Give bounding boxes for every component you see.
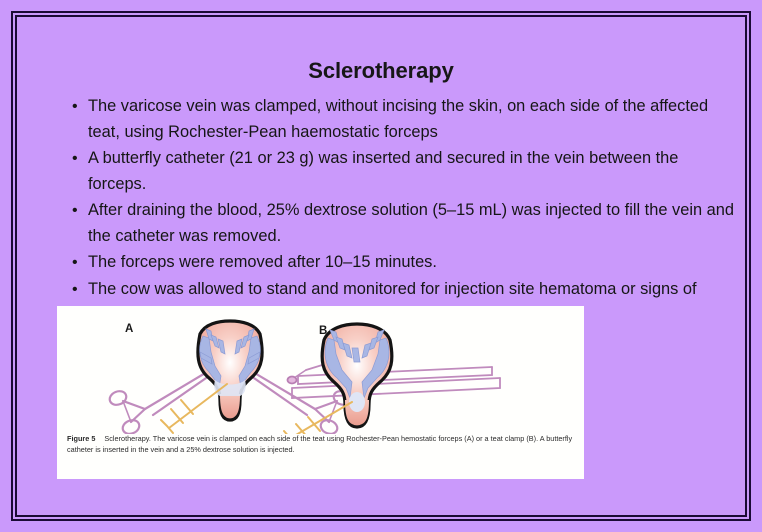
bullet-dot-icon: • [72,277,78,303]
list-item: • The forceps were removed after 10–15 m… [70,250,734,276]
list-item-text: The forceps were removed after 10–15 min… [88,253,437,271]
forceps-left [108,372,209,434]
list-item: • A butterfly catheter (21 or 23 g) was … [70,146,734,197]
teat-clamp [288,345,501,398]
bullet-dot-icon: • [72,146,78,172]
page-title: Sclerotherapy [0,58,762,84]
list-item-text: The varicose vein was clamped, without i… [88,97,708,141]
bullet-dot-icon: • [72,198,78,224]
figure-image-panel: A B Figure 5Sclerotherapy. The varicose … [57,306,584,479]
panel-b-illustration [284,324,500,434]
figure-caption: Figure 5Sclerotherapy. The varicose vein… [67,434,575,455]
panel-a-label: A [125,323,133,335]
figure-caption-text: Sclerotherapy. The varicose vein is clam… [67,434,572,454]
slide-canvas: Sclerotherapy • The varicose vein was cl… [0,0,762,532]
butterfly-catheter-a [161,384,227,433]
bullet-dot-icon: • [72,250,78,276]
figure-number: Figure 5 [67,434,95,443]
list-item: • After draining the blood, 25% dextrose… [70,198,734,249]
panel-b-label: B [319,325,327,337]
list-item-text: After draining the blood, 25% dextrose s… [88,201,734,245]
bullet-list: • The varicose vein was clamped, without… [70,94,734,329]
panel-a-illustration [108,321,353,434]
bullet-dot-icon: • [72,94,78,120]
list-item-text: A butterfly catheter (21 or 23 g) was in… [88,149,678,193]
list-item: • The varicose vein was clamped, without… [70,94,734,145]
